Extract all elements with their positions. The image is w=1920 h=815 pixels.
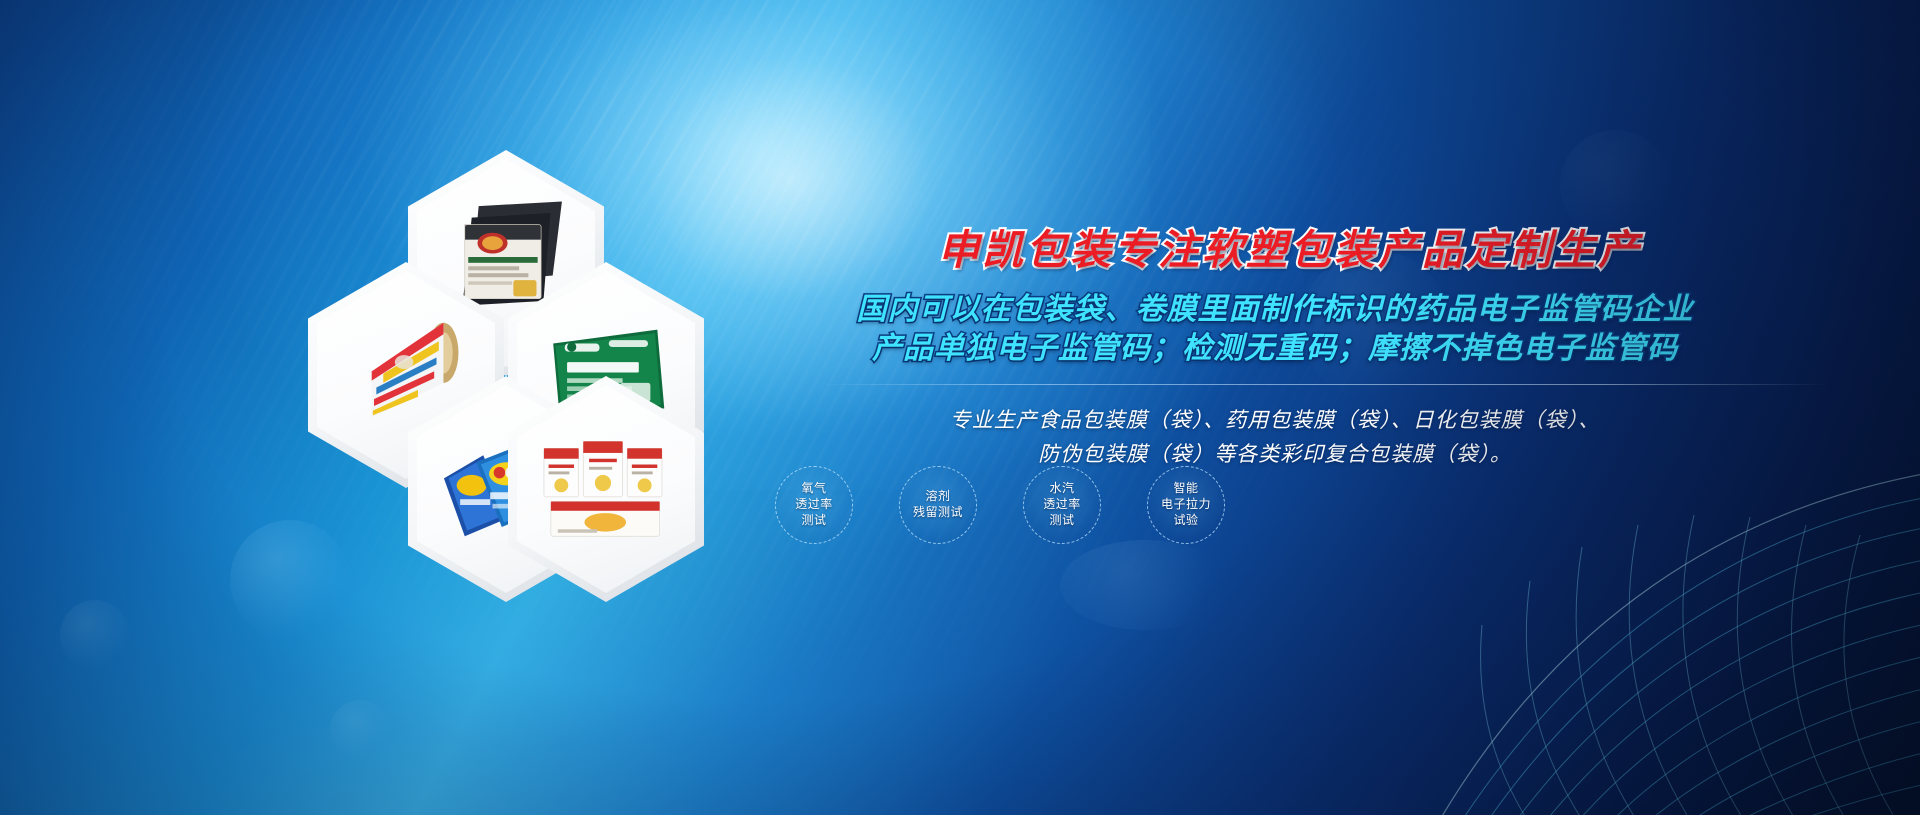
badge-line: 残留测试: [913, 505, 963, 521]
badge-line: 智能: [1173, 481, 1198, 497]
subtitle-block: 国内可以在包装袋、卷膜里面制作标识的药品电子监管码企业 产品单独电子监管码；检测…: [660, 290, 1860, 368]
test-badge-group: 氧气 透过率 测试 溶剂 残留测试 水汽 透过率 测试 智能 电子拉力 试验: [775, 466, 1225, 544]
badge-line: 透过率: [795, 497, 833, 513]
body-block: 专业生产食品包装膜（袋）、药用包装膜（袋）、日化包装膜（袋）、 防伪包装膜（袋）…: [660, 403, 1860, 471]
badge-line: 电子拉力: [1161, 497, 1211, 513]
subtitle-line-1: 国内可以在包装袋、卷膜里面制作标识的药品电子监管码企业: [690, 290, 1860, 329]
bokeh-dot: [1560, 130, 1670, 240]
badge-smart-electronic-tensile-test[interactable]: 智能 电子拉力 试验: [1147, 466, 1225, 544]
badge-solvent-residue-test[interactable]: 溶剂 残留测试: [899, 466, 977, 544]
badge-water-vapor-permeability-test[interactable]: 水汽 透过率 测试: [1023, 466, 1101, 544]
badge-line: 测试: [801, 513, 826, 529]
badge-line: 水汽: [1049, 481, 1074, 497]
badge-oxygen-permeability-test[interactable]: 氧气 透过率 测试: [775, 466, 853, 544]
promo-banner: 申凯包装专注软塑包装产品定制生产 国内可以在包装袋、卷膜里面制作标识的药品电子监…: [0, 0, 1920, 815]
bokeh-dot: [330, 700, 390, 760]
bokeh-dot: [60, 600, 130, 670]
badge-line: 试验: [1173, 513, 1198, 529]
product-hexagon-cluster: [300, 150, 720, 580]
page-title: 申凯包装专注软塑包装产品定制生产: [660, 228, 1860, 272]
badge-line: 测试: [1049, 513, 1074, 529]
pharmacy-sachets-image: [537, 416, 676, 562]
badge-line: 溶剂: [925, 489, 950, 505]
subtitle-line-2: 产品单独电子监管码；检测无重码；摩擦不掉色电子监管码: [690, 329, 1860, 368]
body-line-1: 专业生产食品包装膜（袋）、药用包装膜（袋）、日化包装膜（袋）、: [690, 403, 1860, 437]
badge-line: 氧气: [801, 481, 826, 497]
badge-line: 透过率: [1043, 497, 1081, 513]
banner-copy: 申凯包装专注软塑包装产品定制生产 国内可以在包装袋、卷膜里面制作标识的药品电子监…: [660, 228, 1860, 471]
divider: [820, 384, 1830, 385]
bokeh-dot: [1060, 540, 1230, 630]
